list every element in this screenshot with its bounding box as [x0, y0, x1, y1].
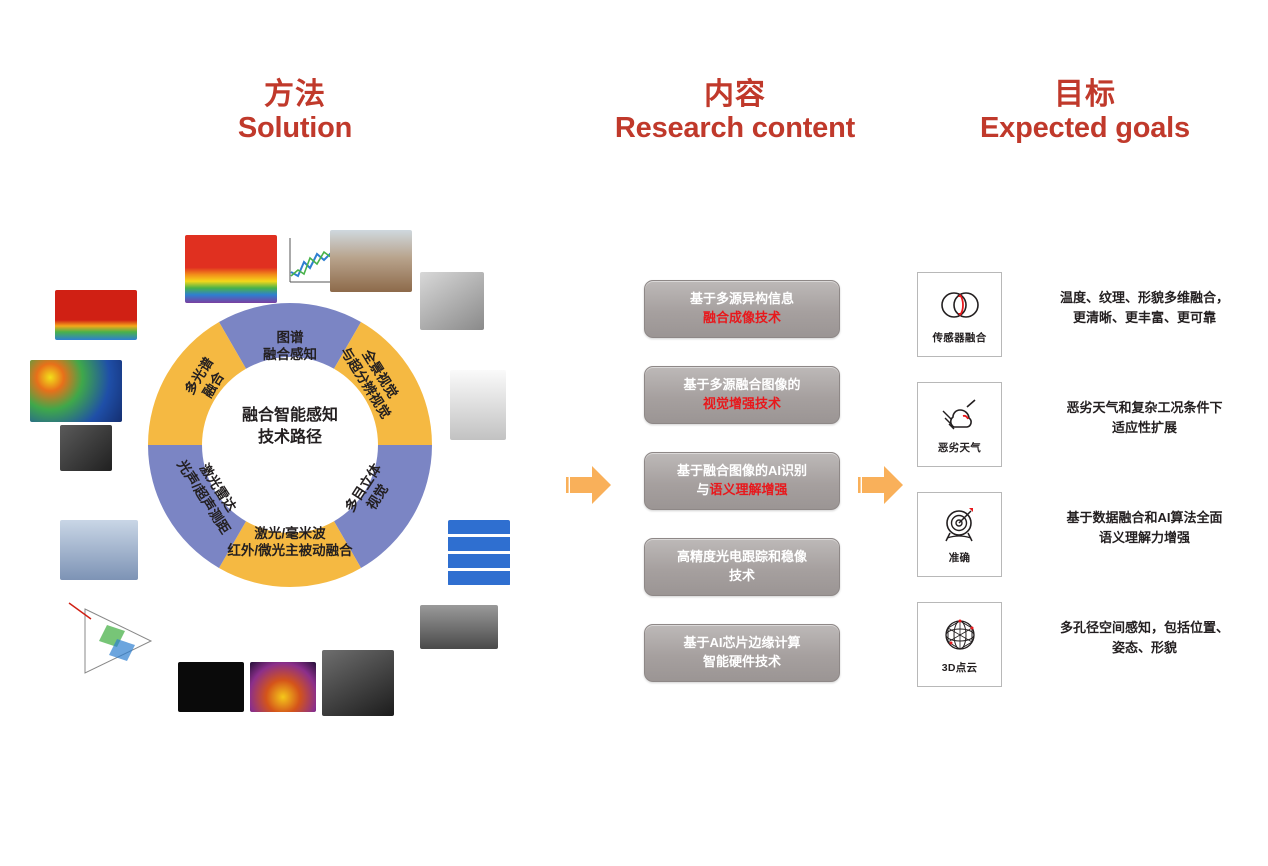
- research-box-2-line1: 基于多源融合图像的: [683, 376, 800, 395]
- expected-goals-column: 传感器融合 温度、纹理、形貌多维融合， 更清晰、更丰富、更可靠 恶劣天气: [917, 272, 1257, 712]
- header-goals-cn: 目标: [935, 78, 1235, 112]
- column-header-goals: 目标 Expected goals: [935, 78, 1235, 145]
- research-box-5-line2: 智能硬件技术: [703, 653, 781, 672]
- thumb-camera-module: [60, 425, 112, 471]
- goal-caption-accuracy: 准确: [949, 550, 971, 565]
- wheel-center-label: 融合智能感知 技术路径: [145, 405, 435, 448]
- goal-text-bad-weather: 恶劣天气和复杂工况条件下 适应性扩展: [1032, 398, 1257, 438]
- goal-text-point-cloud: 多孔径空间感知，包括位置、 姿态、形貌: [1032, 618, 1257, 658]
- arrow-content-to-goals: [858, 462, 906, 508]
- research-box-2[interactable]: 基于多源融合图像的 视觉增强技术: [644, 366, 840, 424]
- goal-card-sensor-fusion[interactable]: 传感器融合: [917, 272, 1002, 357]
- research-box-3-line2: 语义理解增强: [710, 482, 788, 497]
- thumb-night-vision-ship: [178, 662, 244, 712]
- research-box-4[interactable]: 高精度光电跟踪和稳像 技术: [644, 538, 840, 596]
- goal-row-point-cloud: 3D点云 多孔径空间感知，包括位置、 姿态、形貌: [917, 602, 1257, 712]
- research-box-5-line1: 基于AI芯片边缘计算: [683, 634, 800, 653]
- research-box-1[interactable]: 基于多源异构信息 融合成像技术: [644, 280, 840, 338]
- goal-caption-bad-weather: 恶劣天气: [938, 440, 981, 455]
- research-box-1-line2: 融合成像技术: [703, 309, 781, 328]
- goal-card-accuracy[interactable]: 准确: [917, 492, 1002, 577]
- column-header-content: 内容 Research content: [600, 78, 870, 145]
- thumb-spectral-stack: [55, 290, 137, 340]
- thumb-scanner-device: [450, 370, 506, 440]
- goal-card-bad-weather[interactable]: 恶劣天气: [917, 382, 1002, 467]
- thumb-thermal-scene: [250, 662, 316, 712]
- goal-caption-sensor-fusion: 传感器融合: [933, 330, 987, 345]
- thumb-stereo-camera-bar: [420, 605, 498, 649]
- column-header-solution: 方法 Solution: [160, 78, 430, 145]
- header-goals-en: Expected goals: [935, 112, 1235, 145]
- research-box-3-prefix: 与: [696, 482, 709, 497]
- research-content-column: 基于多源异构信息 融合成像技术 基于多源融合图像的 视觉增强技术 基于融合图像的…: [644, 280, 840, 710]
- header-content-cn: 内容: [600, 78, 870, 112]
- diagram-canvas: 方法 Solution 内容 Research content 目标 Expec…: [0, 0, 1268, 866]
- thumb-thermal-image: [30, 360, 122, 422]
- arrow-solution-to-content: [566, 462, 614, 508]
- goal-card-point-cloud[interactable]: 3D点云: [917, 602, 1002, 687]
- goal-text-accuracy: 基于数据融合和AI算法全面 语义理解力增强: [1032, 508, 1257, 548]
- thumb-gimbal-turret: [322, 650, 394, 716]
- target-accuracy-icon: [937, 505, 983, 545]
- header-content-en: Research content: [600, 112, 870, 145]
- research-box-4-line1: 高精度光电跟踪和稳像: [677, 548, 807, 567]
- thumb-ray-diagram: [55, 595, 165, 687]
- thumb-brick-wall-scan: [448, 520, 510, 586]
- thumb-pipeline-photo: [330, 230, 412, 292]
- header-solution-cn: 方法: [160, 78, 430, 112]
- research-box-5[interactable]: 基于AI芯片边缘计算 智能硬件技术: [644, 624, 840, 682]
- goal-row-accuracy: 准确 基于数据融合和AI算法全面 语义理解力增强: [917, 492, 1257, 602]
- research-box-3-line1: 基于融合图像的AI识别: [677, 462, 807, 481]
- thumb-hyperspectral-cube: [185, 235, 277, 303]
- solution-wheel-area: 图谱 融合感知 全景视觉 与超分辨视觉 多目立体 视觉 激光/毫米波 红外/微光…: [0, 210, 520, 740]
- thumb-optics-device: [60, 520, 138, 580]
- research-box-4-line2: 技术: [729, 567, 755, 586]
- research-box-2-line2: 视觉增强技术: [703, 395, 781, 414]
- goal-text-sensor-fusion: 温度、纹理、形貌多维融合， 更清晰、更丰富、更可靠: [1032, 288, 1257, 328]
- goal-row-sensor-fusion: 传感器融合 温度、纹理、形貌多维融合， 更清晰、更丰富、更可靠: [917, 272, 1257, 382]
- research-box-1-line1: 基于多源异构信息: [690, 290, 794, 309]
- research-box-3[interactable]: 基于融合图像的AI识别 与语义理解增强: [644, 452, 840, 510]
- header-solution-en: Solution: [160, 112, 430, 145]
- sensor-fusion-icon: [937, 285, 983, 325]
- bad-weather-icon: [937, 395, 983, 435]
- point-cloud-icon: [937, 615, 983, 655]
- goal-row-bad-weather: 恶劣天气 恶劣天气和复杂工况条件下 适应性扩展: [917, 382, 1257, 492]
- goal-caption-point-cloud: 3D点云: [942, 660, 978, 675]
